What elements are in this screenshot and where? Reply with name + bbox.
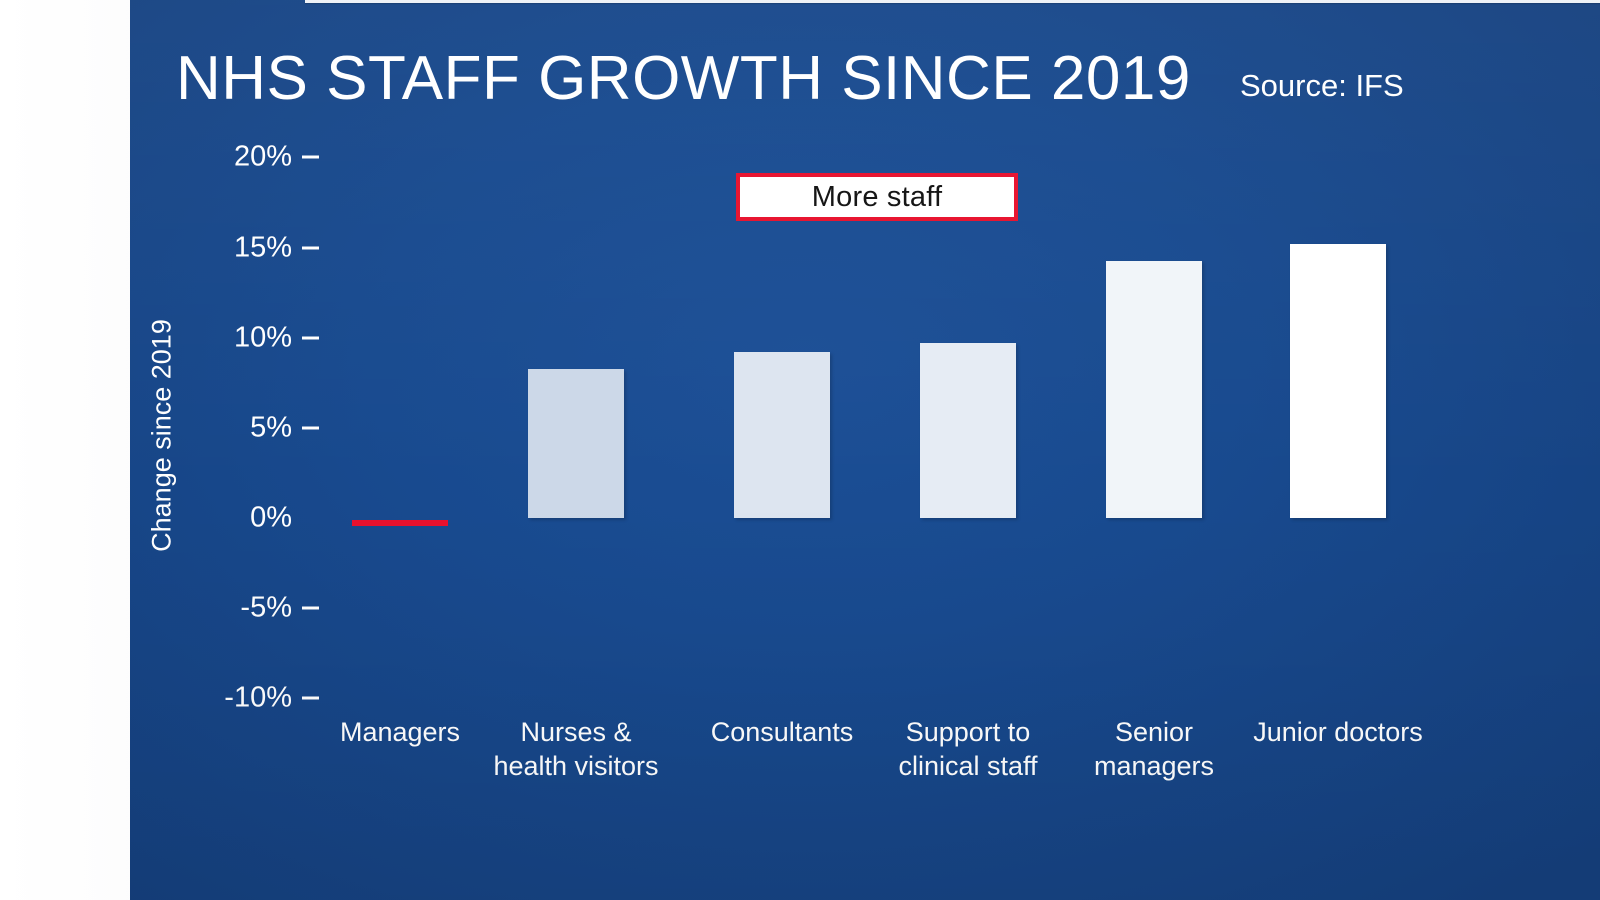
y-tick-label: -10%	[224, 682, 292, 715]
y-tick-mark	[302, 697, 319, 700]
y-tick-label: 15%	[234, 232, 292, 265]
x-label-line: health visitors	[476, 749, 676, 783]
y-tick-mark	[302, 247, 319, 250]
zero-baseline	[305, 0, 1600, 3]
x-label-support-to-clinical-staff: Support to clinical staff	[868, 715, 1068, 783]
x-label-line: Managers	[300, 715, 500, 749]
y-tick-mark	[302, 156, 319, 159]
plot-area: Change since 2019 20% 15% 10% 5% 0%	[130, 0, 1600, 900]
bar-managers[interactable]	[352, 520, 448, 526]
x-label-line: Consultants	[682, 715, 882, 749]
x-label-line: Senior	[1054, 715, 1254, 749]
y-tick-mark	[302, 427, 319, 430]
x-label-line: Junior doctors	[1238, 715, 1438, 749]
x-label-nurses-health-visitors: Nurses & health visitors	[476, 715, 676, 783]
chart-panel: NHS STAFF GROWTH SINCE 2019 Source: IFS …	[130, 0, 1600, 900]
y-tick-label: 5%	[250, 412, 292, 445]
x-label-junior-doctors: Junior doctors	[1238, 715, 1438, 749]
x-label-consultants: Consultants	[682, 715, 882, 749]
y-tick-label: 20%	[234, 141, 292, 174]
y-axis-title: Change since 2019	[147, 286, 178, 586]
x-label-line: managers	[1054, 749, 1254, 783]
x-label-line: Nurses &	[476, 715, 676, 749]
bar-nurses-health-visitors[interactable]	[528, 369, 624, 518]
bar-consultants[interactable]	[734, 352, 830, 518]
slide-canvas: NHS STAFF GROWTH SINCE 2019 Source: IFS …	[0, 0, 1600, 900]
y-tick-mark	[302, 607, 319, 610]
y-tick-label: -5%	[240, 592, 292, 625]
y-tick-label: 0%	[250, 502, 292, 535]
x-label-line: Support to	[868, 715, 1068, 749]
x-label-managers: Managers	[300, 715, 500, 749]
bar-support-to-clinical-staff[interactable]	[920, 343, 1016, 518]
y-tick-label: 10%	[234, 322, 292, 355]
y-tick-mark	[302, 337, 319, 340]
x-label-senior-managers: Senior managers	[1054, 715, 1254, 783]
x-label-line: clinical staff	[868, 749, 1068, 783]
bar-senior-managers[interactable]	[1106, 261, 1202, 518]
bar-junior-doctors[interactable]	[1290, 244, 1386, 518]
